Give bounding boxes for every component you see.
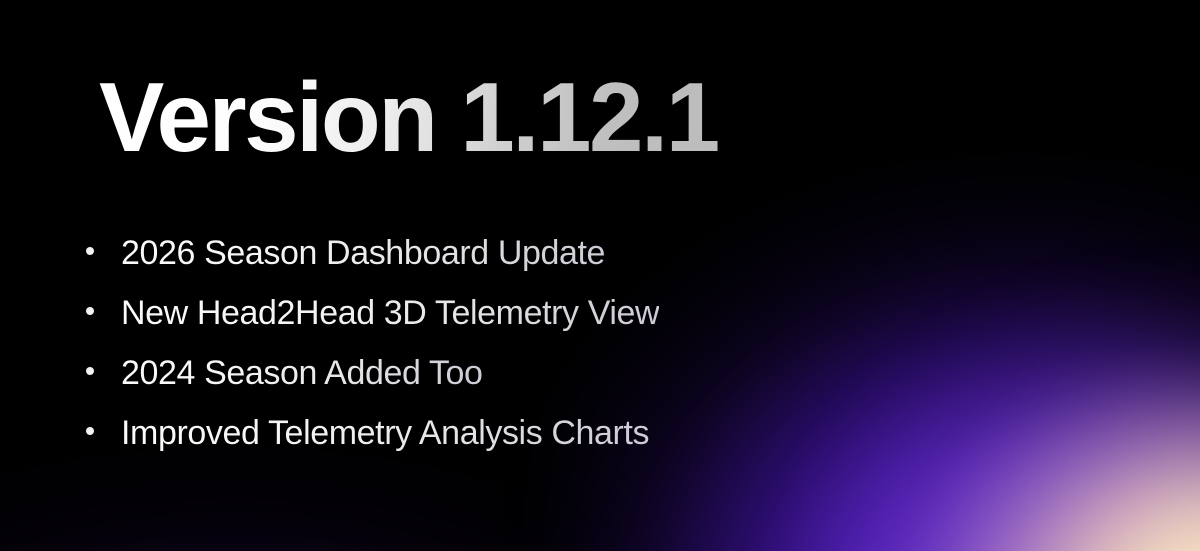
- bullet-dot-icon: [86, 427, 94, 435]
- bullet-dot-icon: [86, 367, 94, 375]
- feature-label: New Head2Head 3D Telemetry View: [121, 283, 659, 343]
- feature-label: 2024 Season Added Too: [121, 343, 483, 403]
- feature-label: Improved Telemetry Analysis Charts: [121, 403, 649, 463]
- list-item: Improved Telemetry Analysis Charts: [86, 403, 659, 463]
- list-item: 2024 Season Added Too: [86, 343, 659, 403]
- bullet-dot-icon: [86, 307, 94, 315]
- list-item: 2026 Season Dashboard Update: [86, 223, 659, 283]
- feature-list: 2026 Season Dashboard Update New Head2He…: [86, 223, 659, 463]
- release-notes-card: Version 1.12.1 2026 Season Dashboard Upd…: [0, 0, 1200, 551]
- list-item: New Head2Head 3D Telemetry View: [86, 283, 659, 343]
- bullet-dot-icon: [86, 247, 94, 255]
- feature-label: 2026 Season Dashboard Update: [121, 223, 605, 283]
- card-content: Version 1.12.1 2026 Season Dashboard Upd…: [0, 0, 1200, 551]
- page-title: Version 1.12.1: [99, 68, 718, 166]
